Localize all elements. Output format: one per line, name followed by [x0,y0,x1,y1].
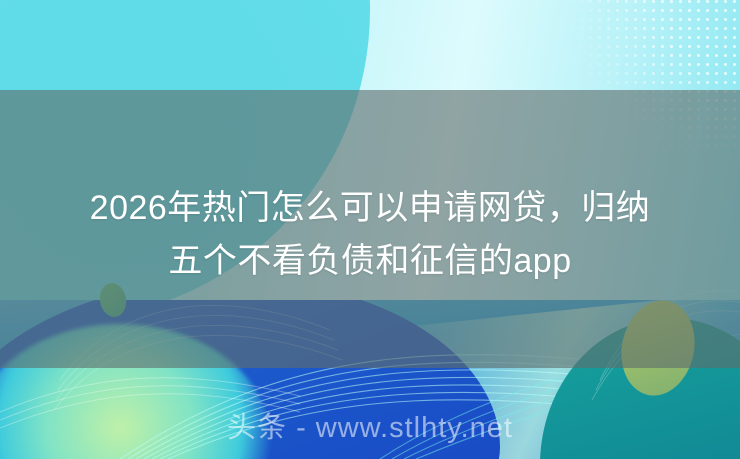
title-line-1: 2026年热门怎么可以申请网贷，归纳 [28,182,712,235]
title-line-2: 五个不看负债和征信的app [28,235,712,288]
site-watermark: 头条 - www.stlhty.net [0,404,740,446]
article-cover-banner: 2026年热门怎么可以申请网贷，归纳 五个不看负债和征信的app 头条 - ww… [0,0,740,459]
page-title: 2026年热门怎么可以申请网贷，归纳 五个不看负债和征信的app [0,182,740,288]
